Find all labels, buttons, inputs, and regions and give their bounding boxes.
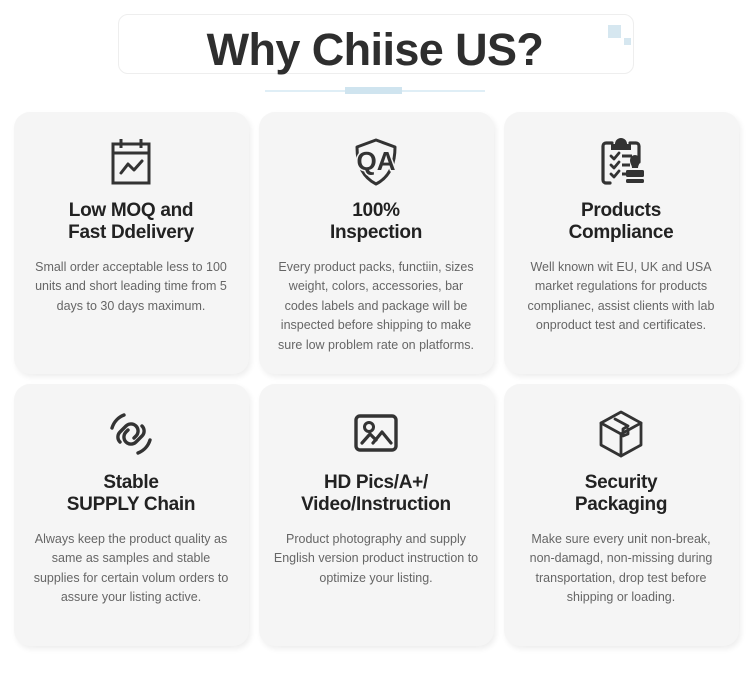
- feature-card[interactable]: Stable SUPPLY Chain Always keep the prod…: [14, 384, 249, 646]
- feature-card[interactable]: Security Packaging Make sure every unit …: [504, 384, 739, 646]
- feature-card[interactable]: Products Compliance Well known wit EU, U…: [504, 112, 739, 374]
- card-title: Products Compliance: [569, 200, 674, 244]
- feature-card[interactable]: Low MOQ and Fast Ddelivery Small order a…: [14, 112, 249, 374]
- title-underline-accent: [345, 87, 402, 94]
- qa-shield-icon: QA: [350, 134, 402, 190]
- card-body-text: Small order acceptable less to 100 units…: [29, 258, 234, 316]
- card-body-text: Make sure every unit non-break, non-dama…: [519, 530, 724, 608]
- card-title: HD Pics/A+/ Video/Instruction: [301, 472, 451, 516]
- card-title: 100% Inspection: [330, 200, 422, 244]
- image-photo-icon: [351, 406, 401, 462]
- clipboard-stamp-icon: [596, 134, 646, 190]
- card-title: Stable SUPPLY Chain: [67, 472, 195, 516]
- card-title: Security Packaging: [575, 472, 667, 516]
- card-title: Low MOQ and Fast Ddelivery: [68, 200, 194, 244]
- card-body-text: Well known wit EU, UK and USA market reg…: [519, 258, 724, 336]
- chain-link-icon: [106, 406, 156, 462]
- package-box-icon: [595, 406, 647, 462]
- card-body-text: Always keep the product quality as same …: [29, 530, 234, 608]
- page-title: Why Chiise US?: [0, 26, 750, 73]
- card-body-text: Product photography and supply English v…: [274, 530, 479, 588]
- feature-card[interactable]: HD Pics/A+/ Video/Instruction Product ph…: [259, 384, 494, 646]
- svg-text:QA: QA: [357, 146, 396, 176]
- card-body-text: Every product packs, functiin, sizes wei…: [274, 258, 479, 355]
- calendar-chart-icon: [107, 134, 155, 190]
- feature-card-grid: Low MOQ and Fast Ddelivery Small order a…: [0, 112, 750, 646]
- feature-card[interactable]: QA 100% Inspection Every product packs, …: [259, 112, 494, 374]
- page-header: Why Chiise US?: [0, 0, 750, 110]
